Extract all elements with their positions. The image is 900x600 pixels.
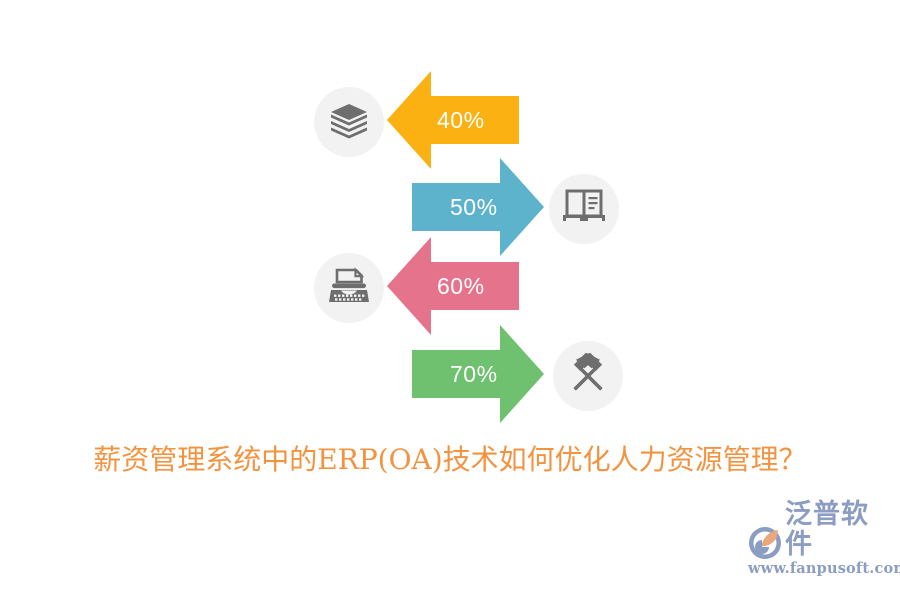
screenshot-root: 40% bbox=[0, 0, 900, 600]
page-title: 薪资管理系统中的ERP(OA)技术如何优化人力资源管理？ bbox=[0, 438, 900, 478]
arrow-label-2: 50% bbox=[450, 196, 498, 219]
stacked-books-icon bbox=[327, 100, 371, 144]
logo-row: 泛普软件 bbox=[748, 522, 884, 560]
arrow-infographic: 40% bbox=[0, 0, 900, 430]
arrow-row-4: 70% bbox=[0, 325, 900, 425]
logo-brand-text: 泛普软件 bbox=[785, 500, 884, 560]
typewriter-icon bbox=[327, 267, 371, 309]
logo-url-text: www.fanpusoft.com bbox=[748, 561, 884, 577]
crossed-hammers-icon bbox=[565, 353, 611, 399]
fanpu-logomark-icon bbox=[748, 526, 782, 560]
arrow-label-3: 60% bbox=[437, 275, 485, 298]
icon-circle-3 bbox=[314, 253, 384, 323]
brand-logo[interactable]: 泛普软件 www.fanpusoft.com bbox=[748, 522, 884, 584]
arrow-label-1: 40% bbox=[437, 109, 485, 132]
open-book-icon bbox=[562, 188, 606, 230]
icon-circle-4 bbox=[553, 341, 623, 411]
arrow-row-3: 60% bbox=[0, 237, 900, 337]
icon-circle-2 bbox=[549, 174, 619, 244]
arrow-label-4: 70% bbox=[450, 363, 498, 386]
arrow-row-1: 40% bbox=[0, 71, 900, 171]
icon-circle-1 bbox=[314, 87, 384, 157]
